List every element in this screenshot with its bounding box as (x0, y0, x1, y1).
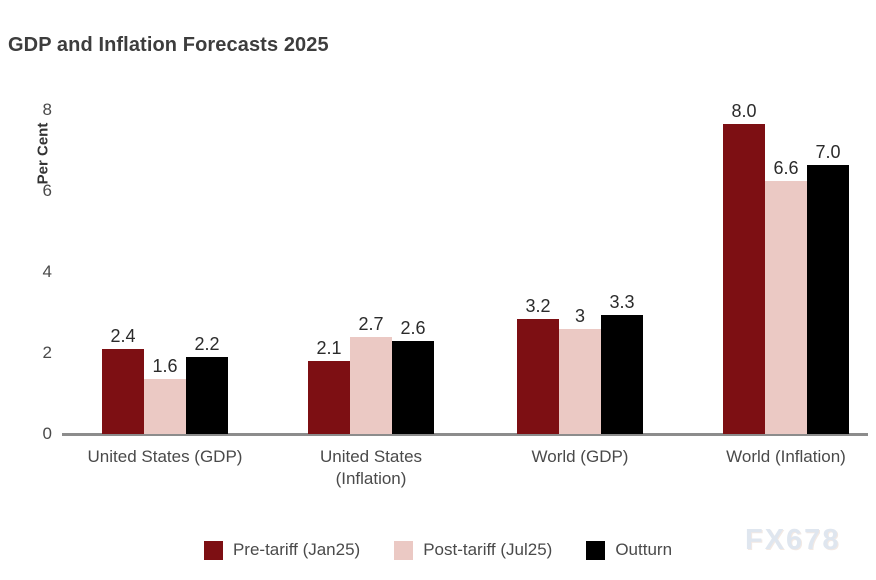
bar[interactable]: 3 (559, 329, 601, 434)
plot-area: 2.41.62.22.12.72.63.233.38.06.67.0 (62, 110, 868, 434)
y-axis-tick-label: 2 (22, 344, 52, 361)
legend-label: Outturn (615, 540, 672, 560)
y-axis-ticks: 02468 (18, 0, 52, 580)
bar-value-label: 3 (575, 307, 585, 325)
chart-container: GDP and Inflation Forecasts 2025 Per Cen… (0, 0, 876, 580)
bar[interactable]: 3.2 (517, 319, 559, 434)
y-axis-tick-label: 4 (22, 263, 52, 280)
bar-value-label: 3.2 (525, 297, 550, 315)
x-axis-category-label: United States (GDP) (55, 446, 275, 468)
bar[interactable]: 3.3 (601, 315, 643, 434)
legend-item[interactable]: Pre-tariff (Jan25) (204, 540, 360, 560)
bar-value-label: 2.7 (358, 315, 383, 333)
bar-value-label: 3.3 (609, 293, 634, 311)
bar[interactable]: 7.0 (807, 165, 849, 434)
legend-label: Pre-tariff (Jan25) (233, 540, 360, 560)
watermark: FX678 (745, 524, 840, 557)
bar[interactable]: 1.6 (144, 379, 186, 434)
chart-title: GDP and Inflation Forecasts 2025 (8, 34, 329, 57)
bar[interactable]: 6.6 (765, 181, 807, 434)
bar-group: 8.06.67.0 (723, 110, 849, 434)
bar[interactable]: 2.1 (308, 361, 350, 434)
x-axis-category-label: World (Inflation) (676, 446, 876, 468)
bar-value-label: 2.2 (194, 335, 219, 353)
y-axis-tick-label: 0 (22, 425, 52, 442)
bar-group: 3.233.3 (517, 110, 643, 434)
bar[interactable]: 2.6 (392, 341, 434, 434)
x-axis-label-line: World (Inflation) (676, 446, 876, 468)
bar-value-label: 2.1 (316, 339, 341, 357)
y-axis-tick-label: 8 (22, 101, 52, 118)
bar-group: 2.41.62.2 (102, 110, 228, 434)
bar-value-label: 8.0 (731, 102, 756, 120)
x-axis-label-line: United States (261, 446, 481, 468)
bar[interactable]: 2.4 (102, 349, 144, 434)
legend-item[interactable]: Post-tariff (Jul25) (394, 540, 552, 560)
legend-label: Post-tariff (Jul25) (423, 540, 552, 560)
bar-group: 2.12.72.6 (308, 110, 434, 434)
x-axis-label-line: World (GDP) (470, 446, 690, 468)
y-axis-tick-label: 6 (22, 182, 52, 199)
bar-value-label: 2.6 (400, 319, 425, 337)
legend-item[interactable]: Outturn (586, 540, 672, 560)
bar[interactable]: 2.2 (186, 357, 228, 434)
bar[interactable]: 2.7 (350, 337, 392, 434)
x-axis-label-line: United States (GDP) (55, 446, 275, 468)
bar-value-label: 6.6 (773, 159, 798, 177)
bar-value-label: 2.4 (110, 327, 135, 345)
bar-value-label: 7.0 (815, 143, 840, 161)
legend-swatch-icon (394, 541, 413, 560)
x-axis-category-label: World (GDP) (470, 446, 690, 468)
legend-swatch-icon (204, 541, 223, 560)
legend-swatch-icon (586, 541, 605, 560)
bar-value-label: 1.6 (152, 357, 177, 375)
x-axis-category-label: United States(Inflation) (261, 446, 481, 491)
bar[interactable]: 8.0 (723, 124, 765, 434)
x-axis-label-line: (Inflation) (261, 468, 481, 490)
